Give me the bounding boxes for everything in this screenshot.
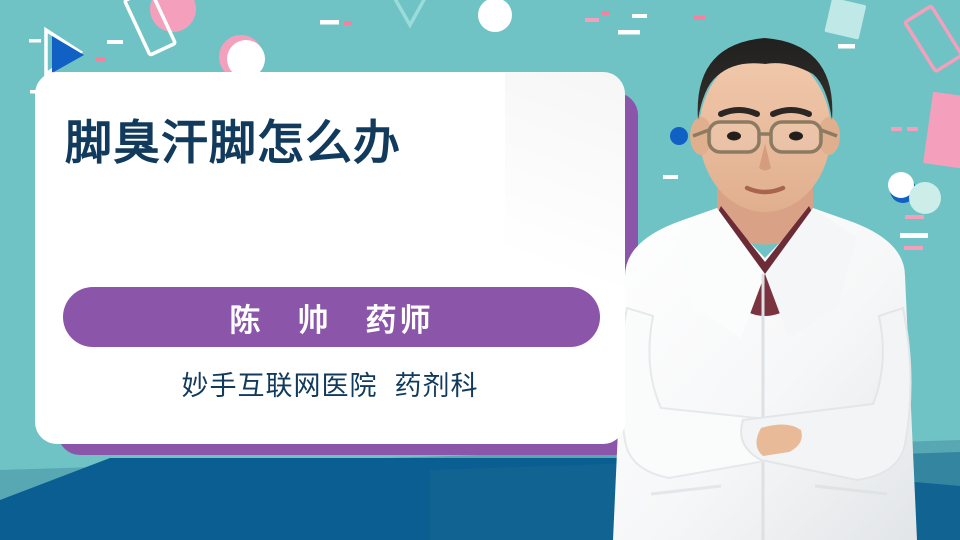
presenter-pill[interactable]: 陈 帅 药师 [63,287,600,347]
affiliation-text: 妙手互联网医院 药剂科 [35,364,625,403]
content-card: 脚臭汗脚怎么办 陈 帅 药师 妙手互联网医院 药剂科 [35,72,625,444]
page-title: 脚臭汗脚怎么办 [65,104,401,173]
presenter-name: 陈 帅 药师 [230,295,434,340]
torso-base [613,208,917,540]
eye-right [789,132,803,141]
eye-left [727,132,741,141]
slide-canvas: 脚臭汗脚怎么办 陈 帅 药师 妙手互联网医院 药剂科 [0,0,960,540]
